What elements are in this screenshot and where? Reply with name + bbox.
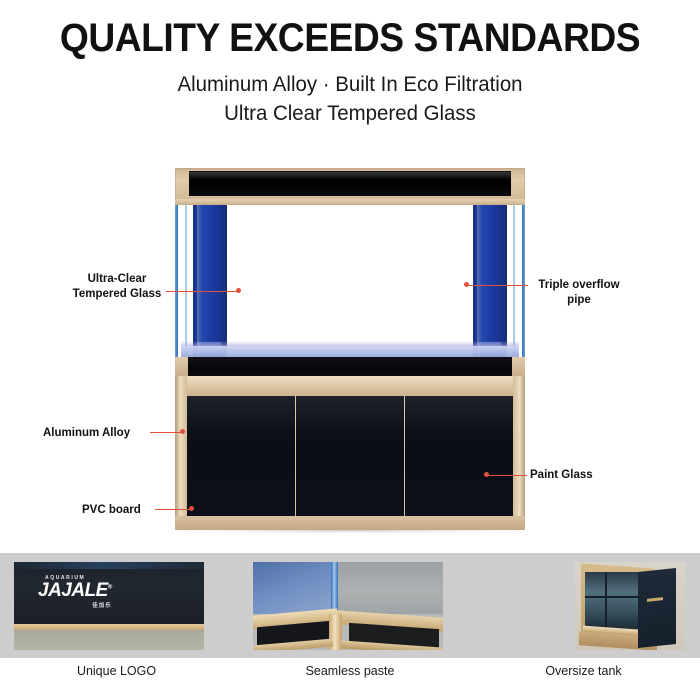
- cabinet: [175, 376, 525, 530]
- tank-bottom-corner-left: [175, 357, 188, 378]
- door-sheen: [405, 396, 513, 434]
- cabinet-right-post: [513, 376, 525, 530]
- overflow-highlight: [477, 205, 482, 357]
- callout-label-paint-glass: Paint Glass: [530, 468, 620, 483]
- overflow-box-right: [473, 205, 507, 357]
- tank-bottom-band: [175, 357, 525, 378]
- glass-left-inner-edge: [185, 205, 187, 357]
- cabinet-left-post: [175, 376, 187, 530]
- tank-base-panel: [181, 346, 519, 357]
- glass-left-edge: [175, 205, 178, 357]
- hood-sheen: [189, 172, 511, 179]
- callout-dot-triple-overflow-pipe: [464, 282, 469, 287]
- callout-dot-aluminum-alloy: [180, 429, 185, 434]
- subtitle-line-2: Ultra Clear Tempered Glass: [18, 101, 683, 126]
- callout-dot-paint-glass: [484, 472, 489, 477]
- logo-top-bar: [14, 562, 204, 569]
- feature-caption-unique-logo: Unique LOGO: [5, 663, 229, 678]
- brand-name: JAJALE®: [38, 581, 112, 600]
- callout-line-triple-overflow-pipe: [466, 285, 528, 286]
- overflow-box-left: [193, 205, 227, 357]
- cabinet-door-center: [296, 396, 404, 516]
- feature-thumbnail-oversize-tank: [575, 562, 685, 650]
- callout-label-aluminum-alloy: Aluminum Alloy: [43, 426, 147, 441]
- aquarium-illustration: [175, 168, 525, 530]
- callout-line-paint-glass: [487, 475, 527, 476]
- feature-caption-seamless-paste: Seamless paste: [238, 663, 463, 678]
- glass-right-edge: [522, 205, 525, 357]
- seam-glass-right: [337, 562, 443, 614]
- registered-mark: ®: [108, 585, 112, 591]
- callout-line-aluminum-alloy: [150, 432, 183, 433]
- door-sheen: [187, 396, 295, 434]
- callout-dot-ultra-clear-tempered-glass: [236, 288, 241, 293]
- oversize-open-door: [638, 568, 676, 648]
- oversize-mullion-vertical: [605, 572, 607, 630]
- tank-bottom-corner-right: [512, 357, 525, 378]
- callout-label-triple-overflow-pipe: Triple overflow pipe: [533, 278, 625, 308]
- cabinet-top-rail: [175, 376, 525, 396]
- cabinet-door-left: [187, 396, 295, 516]
- logo-floor: [14, 630, 204, 650]
- brand-logo: AQUARIUM JAJALE® 佳加乐: [38, 575, 112, 609]
- hood-frame: [175, 168, 525, 201]
- overflow-highlight: [197, 205, 202, 357]
- glass-right-inner-edge: [513, 205, 515, 357]
- page-title: QUALITY EXCEEDS STANDARDS: [25, 16, 676, 61]
- tank-glass-body: [181, 205, 519, 357]
- feature-caption-oversize-tank: Oversize tank: [472, 663, 696, 678]
- callout-label-pvc-board: PVC board: [82, 503, 152, 518]
- product-infographic: QUALITY EXCEEDS STANDARDS Aluminum Alloy…: [0, 0, 700, 700]
- cabinet-door-right: [405, 396, 513, 516]
- callout-dot-pvc-board: [189, 506, 194, 511]
- callout-line-pvc-board: [155, 509, 192, 510]
- door-sheen: [296, 396, 404, 434]
- feature-thumbnail-seamless-paste: [253, 562, 443, 650]
- subtitle-line-1: Aluminum Alloy · Built In Eco Filtration: [18, 72, 683, 97]
- callout-label-ultra-clear-tempered-glass: Ultra-Clear Tempered Glass: [72, 272, 162, 302]
- callout-line-ultra-clear-tempered-glass: [166, 291, 238, 292]
- cabinet-bottom-rail: [175, 516, 525, 530]
- brand-name-text: JAJALE: [38, 580, 108, 601]
- brand-subtext: 佳加乐: [38, 601, 112, 609]
- feature-thumbnail-unique-logo: AQUARIUM JAJALE® 佳加乐: [14, 562, 204, 650]
- seam-glass-left: [253, 562, 333, 614]
- logo-panel: AQUARIUM JAJALE® 佳加乐: [14, 562, 204, 624]
